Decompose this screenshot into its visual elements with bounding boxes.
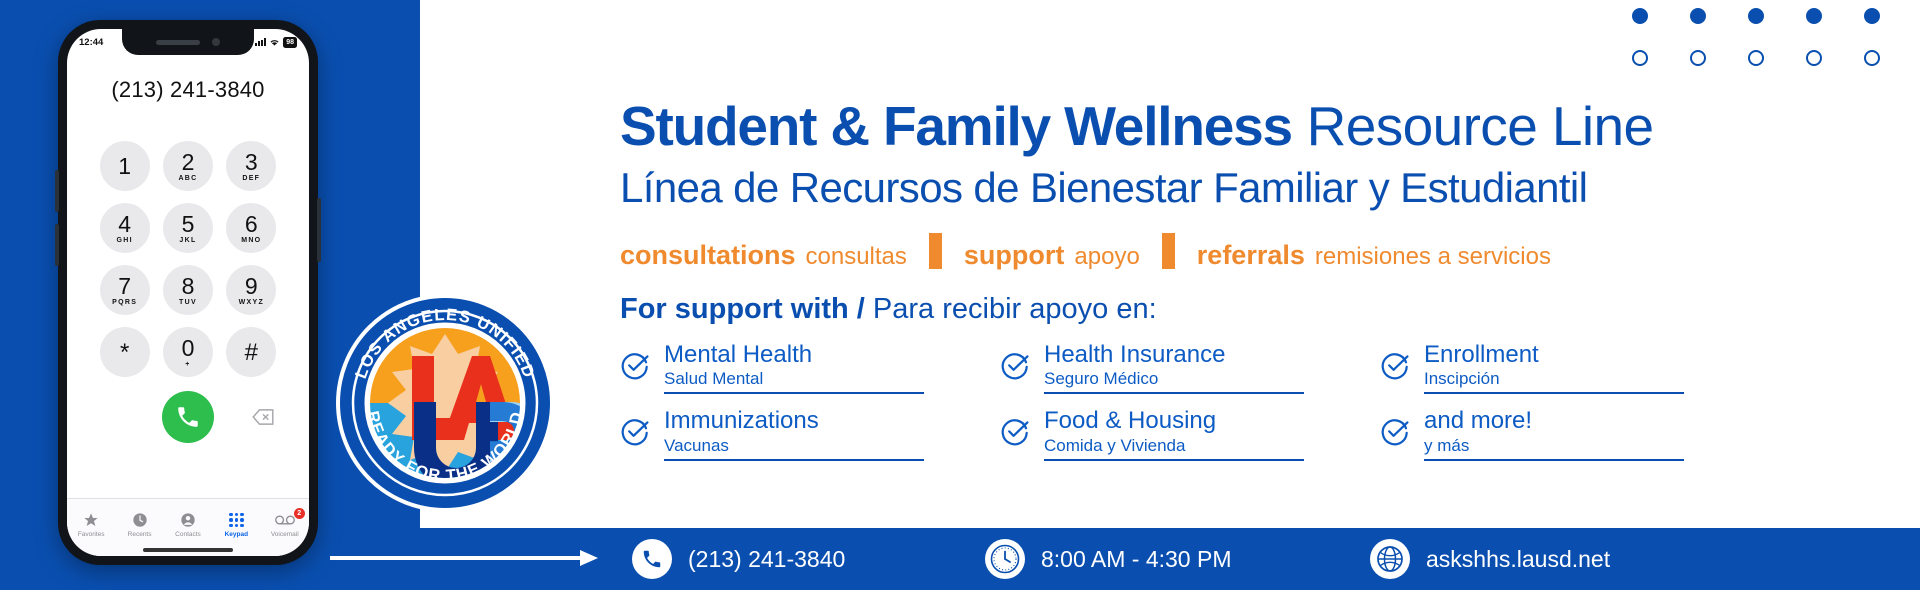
phone-notch bbox=[122, 29, 254, 55]
service-label-spanish: apoyo bbox=[1074, 243, 1139, 270]
topic-label-spanish: Salud Mental bbox=[664, 368, 924, 389]
keypad-key-9[interactable]: 9WXYZ bbox=[226, 265, 276, 315]
check-circle-icon bbox=[620, 416, 650, 451]
service-label-english: referrals bbox=[1197, 240, 1305, 270]
topic-label-spanish: y más bbox=[1424, 435, 1684, 456]
keypad-dot bbox=[235, 513, 239, 517]
person-icon bbox=[180, 511, 196, 529]
keypad-dot bbox=[235, 518, 239, 522]
globe-icon bbox=[1370, 539, 1410, 579]
keypad-key-digit: 1 bbox=[118, 155, 131, 178]
status-time: 12:44 bbox=[79, 37, 103, 48]
keypad-key-letters: GHI bbox=[116, 237, 132, 244]
check-circle-icon bbox=[620, 350, 650, 385]
keypad-key-8[interactable]: 8TUV bbox=[163, 265, 213, 315]
keypad-key-letters: TUV bbox=[179, 299, 197, 306]
topic-item: Health InsuranceSeguro Médico bbox=[1000, 342, 1380, 394]
support-heading-english: For support with / bbox=[620, 293, 865, 325]
keypad-key-digit: 0 bbox=[182, 337, 195, 360]
keypad-key-digit: 8 bbox=[182, 275, 195, 298]
support-heading: For support with / Para recibir apoyo en… bbox=[620, 293, 1920, 326]
keypad-key-letters: DEF bbox=[242, 175, 260, 182]
keypad-key-2[interactable]: 2ABC bbox=[163, 141, 213, 191]
page-title-light: Resource Line bbox=[1292, 95, 1654, 157]
keypad-key-letters: WXYZ bbox=[239, 299, 264, 306]
service-support: supportapoyo bbox=[964, 240, 1140, 271]
clock-icon bbox=[985, 539, 1025, 579]
keypad-key-letters: + bbox=[185, 361, 190, 368]
main-content: Student & Family Wellness Resource Line … bbox=[620, 0, 1920, 461]
footer-contact-bar: (213) 241-3840 8:00 AM - 4:30 PM bbox=[0, 528, 1920, 590]
dialed-number-display: (213) 241-3840 bbox=[67, 77, 309, 103]
service-separator-bar bbox=[929, 233, 942, 269]
front-camera-icon bbox=[212, 38, 220, 46]
keypad-key-7[interactable]: 7PQRS bbox=[100, 265, 150, 315]
check-circle-icon bbox=[1380, 350, 1410, 385]
keypad-key-3[interactable]: 3DEF bbox=[226, 141, 276, 191]
topic-label-english: Mental Health bbox=[664, 342, 924, 367]
topic-label-spanish: Seguro Médico bbox=[1044, 368, 1304, 389]
keypad-key-letters: MNO bbox=[241, 237, 261, 244]
service-label-english: support bbox=[964, 240, 1065, 270]
clock-icon bbox=[132, 511, 148, 529]
check-circle-icon bbox=[1380, 416, 1410, 451]
phone-handset-icon bbox=[175, 404, 201, 430]
topic-label-english: Health Insurance bbox=[1044, 342, 1304, 367]
services-row: consultationsconsultassupportapoyoreferr… bbox=[620, 228, 1920, 271]
footer-hours-item: 8:00 AM - 4:30 PM bbox=[985, 539, 1231, 579]
check-circle-icon bbox=[1000, 350, 1030, 385]
topic-text: Health InsuranceSeguro Médico bbox=[1044, 342, 1304, 394]
page-title-bold: Student & Family Wellness bbox=[620, 95, 1292, 157]
service-referrals: referralsremisiones a servicios bbox=[1197, 240, 1551, 271]
call-button[interactable] bbox=[162, 391, 214, 443]
topic-text: and more!y más bbox=[1424, 408, 1684, 460]
topic-text: Mental HealthSalud Mental bbox=[664, 342, 924, 394]
star-icon bbox=[83, 511, 99, 529]
footer-hours-text: 8:00 AM - 4:30 PM bbox=[1041, 546, 1231, 573]
backspace-icon bbox=[252, 409, 274, 425]
keypad-dot bbox=[229, 524, 233, 528]
wellness-resource-line-banner: 12:44 98 (213) 241-3840 12ABC3DEF4GHI5JK… bbox=[0, 0, 1920, 590]
lausd-seal-logo: LOS ANGELES UNIFIED READY FOR THE WORLD bbox=[336, 294, 554, 512]
footer-website-item[interactable]: askshhs.lausd.net bbox=[1370, 539, 1610, 579]
service-label-spanish: remisiones a servicios bbox=[1315, 243, 1551, 270]
topic-label-spanish: Comida y Vivienda bbox=[1044, 435, 1304, 456]
topic-label-spanish: Vacunas bbox=[664, 435, 924, 456]
keypad-dot bbox=[229, 513, 233, 517]
keypad-key-4[interactable]: 4GHI bbox=[100, 203, 150, 253]
keypad-dot bbox=[240, 513, 244, 517]
phone-icon bbox=[632, 539, 672, 579]
wifi-icon bbox=[269, 38, 280, 47]
delete-digit-button[interactable] bbox=[251, 405, 275, 429]
keypad-key-digit: 9 bbox=[245, 275, 258, 298]
topic-label-spanish: Inscipción bbox=[1424, 368, 1684, 389]
support-heading-spanish: Para recibir apoyo en: bbox=[865, 293, 1157, 325]
keypad-key-star[interactable]: * bbox=[100, 327, 150, 377]
footer-website-text: askshhs.lausd.net bbox=[1426, 546, 1610, 573]
keypad-key-5[interactable]: 5JKL bbox=[163, 203, 213, 253]
topic-text: EnrollmentInscipción bbox=[1424, 342, 1684, 394]
keypad-key-letters: JKL bbox=[179, 237, 196, 244]
signal-bars-icon bbox=[255, 38, 266, 46]
page-subtitle-spanish: Línea de Recursos de Bienestar Familiar … bbox=[620, 164, 1920, 212]
keypad-dot bbox=[229, 518, 233, 522]
topic-label-english: Immunizations bbox=[664, 408, 924, 433]
topic-item: Mental HealthSalud Mental bbox=[620, 342, 1000, 394]
keypad-dot bbox=[235, 524, 239, 528]
keypad-dot bbox=[240, 524, 244, 528]
keypad-key-digit: * bbox=[120, 341, 129, 364]
power-button[interactable] bbox=[317, 198, 321, 262]
keypad-dots-icon bbox=[229, 511, 244, 529]
keypad-key-digit: 7 bbox=[118, 275, 131, 298]
voicemail-icon bbox=[275, 511, 295, 529]
keypad-dot bbox=[240, 518, 244, 522]
topics-grid: Mental HealthSalud MentalHealth Insuranc… bbox=[620, 342, 1920, 461]
keypad-dots-icon bbox=[229, 513, 244, 528]
topic-text: ImmunizationsVacunas bbox=[664, 408, 924, 460]
keypad-key-letters: ABC bbox=[178, 175, 197, 182]
topic-item: and more!y más bbox=[1380, 408, 1760, 460]
service-separator-bar bbox=[1162, 233, 1175, 269]
volume-up-button[interactable] bbox=[55, 170, 59, 212]
check-circle-icon bbox=[1000, 416, 1030, 451]
topic-item: EnrollmentInscipción bbox=[1380, 342, 1760, 394]
topic-label-english: Food & Housing bbox=[1044, 408, 1304, 433]
voicemail-badge: 2 bbox=[294, 508, 305, 519]
phone-screen: 12:44 98 (213) 241-3840 12ABC3DEF4GHI5JK… bbox=[67, 29, 309, 556]
keypad-key-digit: 4 bbox=[118, 213, 131, 236]
battery-indicator: 98 bbox=[283, 37, 297, 48]
keypad-key-digit: 2 bbox=[182, 151, 195, 174]
earpiece-speaker bbox=[156, 40, 200, 45]
service-label-english: consultations bbox=[620, 240, 796, 270]
dialer-keypad[interactable]: 12ABC3DEF4GHI5JKL6MNO7PQRS8TUV9WXYZ*0+# bbox=[67, 141, 309, 377]
keypad-key-letters: PQRS bbox=[112, 299, 137, 306]
keypad-key-0[interactable]: 0+ bbox=[163, 327, 213, 377]
phone-mockup: 12:44 98 (213) 241-3840 12ABC3DEF4GHI5JK… bbox=[58, 20, 318, 565]
keypad-key-digit: 5 bbox=[182, 213, 195, 236]
footer-phone-text: (213) 241-3840 bbox=[688, 546, 845, 573]
topic-label-english: and more! bbox=[1424, 408, 1684, 433]
keypad-key-digit: # bbox=[245, 341, 258, 364]
volume-down-button[interactable] bbox=[55, 224, 59, 266]
topic-label-english: Enrollment bbox=[1424, 342, 1684, 367]
keypad-key-digit: 3 bbox=[245, 151, 258, 174]
topic-text: Food & HousingComida y Vivienda bbox=[1044, 408, 1304, 460]
keypad-key-6[interactable]: 6MNO bbox=[226, 203, 276, 253]
service-label-spanish: consultas bbox=[806, 243, 907, 270]
footer-phone-item[interactable]: (213) 241-3840 bbox=[632, 539, 845, 579]
service-consultations: consultationsconsultas bbox=[620, 240, 907, 271]
page-title: Student & Family Wellness Resource Line bbox=[620, 94, 1920, 158]
topic-item: ImmunizationsVacunas bbox=[620, 408, 1000, 460]
topic-item: Food & HousingComida y Vivienda bbox=[1000, 408, 1380, 460]
keypad-key-hash[interactable]: # bbox=[226, 327, 276, 377]
keypad-key-1[interactable]: 1 bbox=[100, 141, 150, 191]
keypad-key-digit: 6 bbox=[245, 213, 258, 236]
